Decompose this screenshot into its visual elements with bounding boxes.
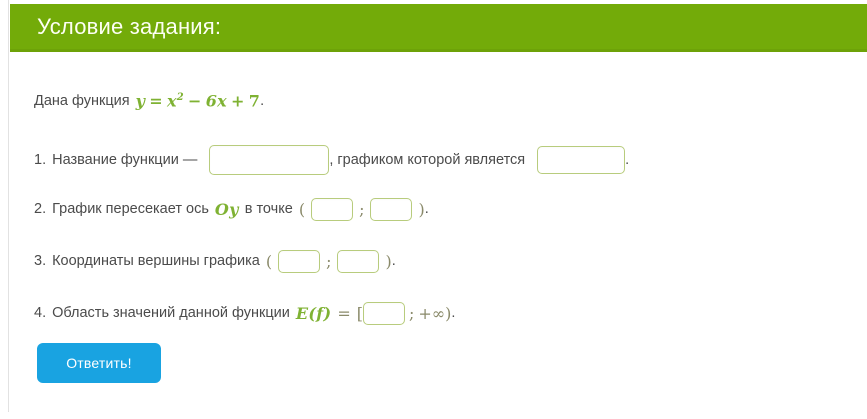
question-3-line: 3. Координаты вершины графика ( ; ). xyxy=(34,250,396,273)
function-formula: y=x2−6x+7 xyxy=(136,93,261,109)
question-4-text-after: . xyxy=(451,306,455,321)
submit-answer-button[interactable]: Ответить! xyxy=(37,343,161,383)
function-statement-period: . xyxy=(260,94,264,109)
formula-x: x xyxy=(167,91,177,110)
question-1-number: 1. xyxy=(34,153,46,168)
question-2-axis-label: Oy xyxy=(215,202,239,218)
question-1-text-middle: , графиком которой является xyxy=(329,153,525,168)
page-title: Условие задания: xyxy=(10,14,221,40)
question-3-input-vertex-x[interactable] xyxy=(278,250,320,273)
question-2-semicolon: ; xyxy=(359,202,364,218)
formula-exponent: 2 xyxy=(177,92,184,103)
question-2-line: 2. График пересекает ось Oy в точке ( ; … xyxy=(34,198,429,221)
formula-minus: − xyxy=(188,91,202,110)
function-statement-prefix: Дана функция xyxy=(34,94,130,109)
formula-y: y xyxy=(136,91,146,110)
formula-6x: 6x xyxy=(206,91,227,110)
function-statement-line: Дана функция y=x2−6x+7. xyxy=(34,93,264,109)
question-3-text-after: . xyxy=(392,254,396,269)
question-4-line: 4. Область значений данной функции E(f) … xyxy=(34,302,455,325)
question-3-semicolon: ; xyxy=(326,254,331,270)
formula-plus: + xyxy=(231,91,245,110)
formula-7: 7 xyxy=(249,91,260,110)
formula-equals: = xyxy=(149,91,163,110)
question-3-input-vertex-y[interactable] xyxy=(337,250,379,273)
question-1-input-graph-name[interactable] xyxy=(537,146,625,174)
question-2-open-paren: ( xyxy=(299,202,305,218)
question-4-range-notation: E(f) xyxy=(296,306,331,322)
question-2-text-after: . xyxy=(425,202,429,217)
question-4-number: 4. xyxy=(34,306,46,321)
question-1-text-after: . xyxy=(625,153,629,168)
question-1-line: 1. Название функции — , графиком которой… xyxy=(34,145,629,175)
task-page: Условие задания: Дана функция y=x2−6x+7.… xyxy=(0,0,867,419)
question-3-text-before: Координаты вершины графика xyxy=(52,254,260,269)
question-1-text-before: Название функции — xyxy=(52,153,197,168)
question-3-open-paren: ( xyxy=(266,254,272,270)
question-4-semicolon: ; xyxy=(409,306,414,322)
question-4-text-before: Область значений данной функции xyxy=(52,306,290,321)
task-condition-header: Условие задания: xyxy=(10,4,867,52)
question-2-number: 2. xyxy=(34,202,46,217)
question-4-input-min-value[interactable] xyxy=(363,302,405,325)
question-2-input-x[interactable] xyxy=(311,198,353,221)
question-2-text-middle: в точке xyxy=(245,202,293,217)
question-2-text-before: График пересекает ось xyxy=(52,202,209,217)
task-body: Дана функция y=x2−6x+7. 1. Название функ… xyxy=(9,55,867,412)
question-2-input-y[interactable] xyxy=(370,198,412,221)
question-3-number: 3. xyxy=(34,254,46,269)
question-4-equals: = xyxy=(337,306,350,322)
question-4-infinity: +∞) xyxy=(418,306,451,322)
question-1-input-function-name[interactable] xyxy=(209,145,329,175)
